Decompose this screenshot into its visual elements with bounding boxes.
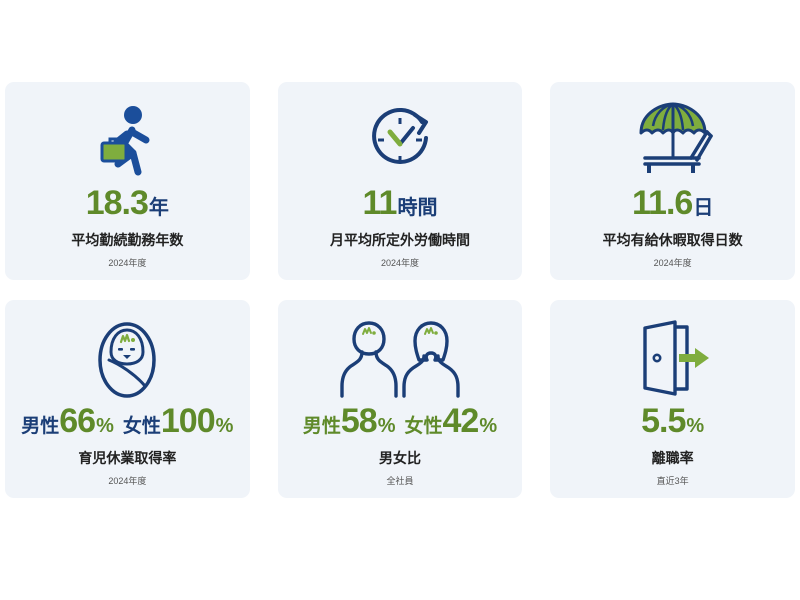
stat-period: 全社員	[386, 477, 413, 486]
stat-title: 育児休業取得率	[78, 451, 176, 465]
female-label: 女性	[404, 417, 442, 436]
male-label: 男性	[303, 417, 341, 436]
stat-period: 2024年度	[381, 259, 419, 268]
male-label: 男性	[21, 417, 59, 436]
female-unit: %	[479, 416, 497, 436]
stat-title: 離職率	[652, 451, 694, 465]
stat-card-tenure: 18.3年 平均勤続勤務年数 2024年度	[5, 82, 250, 280]
stat-value: 18.3	[86, 186, 148, 220]
stat-card-paid-leave: 11.6日 平均有給休暇取得日数 2024年度	[550, 82, 795, 280]
stat-value-line: 18.3年	[86, 186, 169, 220]
beach-umbrella-lounger-icon	[631, 96, 715, 184]
female-label: 女性	[123, 417, 161, 436]
stat-value: 11	[363, 186, 397, 220]
stat-value-line: 11時間	[363, 186, 438, 220]
male-unit: %	[378, 416, 396, 436]
stat-value-line: 5.5%	[641, 404, 704, 438]
stat-period: 2024年度	[108, 477, 146, 486]
stat-period: 直近3年	[657, 477, 689, 486]
stat-card-turnover: 5.5% 離職率 直近3年	[550, 300, 795, 498]
female-unit: %	[216, 416, 234, 436]
stat-card-overtime: 11時間 月平均所定外労働時間 2024年度	[278, 82, 523, 280]
stats-page: 18.3年 平均勤続勤務年数 2024年度 11時間	[0, 0, 800, 600]
stat-title: 男女比	[379, 451, 421, 465]
stat-period: 2024年度	[654, 259, 692, 268]
stat-card-childcare-leave: 男性66%女性100% 育児休業取得率 2024年度	[5, 300, 250, 498]
open-door-exit-arrow-icon	[633, 314, 713, 402]
stat-title: 月平均所定外労働時間	[330, 233, 470, 247]
stat-unit: 日	[693, 198, 713, 218]
stat-value: 11.6	[632, 186, 692, 220]
female-value: 42	[443, 404, 479, 438]
male-value: 66	[59, 404, 95, 438]
female-value: 100	[161, 404, 215, 438]
stat-value-line: 男性66%女性100%	[21, 404, 233, 438]
stat-card-gender-ratio: 男性58%女性42% 男女比 全社員	[278, 300, 523, 498]
clock-arrow-icon	[360, 96, 440, 184]
stat-unit: 時間	[397, 198, 437, 218]
stat-title: 平均有給休暇取得日数	[603, 233, 743, 247]
stat-title: 平均勤続勤務年数	[71, 233, 183, 247]
stat-unit: %	[686, 416, 704, 436]
two-people-icon	[335, 314, 465, 402]
stat-value: 5.5	[641, 404, 685, 438]
male-value: 58	[341, 404, 377, 438]
stats-card-grid: 18.3年 平均勤続勤務年数 2024年度 11時間	[5, 82, 795, 498]
male-unit: %	[96, 416, 114, 436]
stat-value-line: 11.6日	[632, 186, 713, 220]
stat-unit: 年	[149, 198, 169, 218]
stat-value-line: 男性58%女性42%	[303, 404, 497, 438]
stat-period: 2024年度	[108, 259, 146, 268]
swaddled-baby-icon	[93, 314, 161, 402]
walking-person-briefcase-icon	[88, 96, 166, 184]
